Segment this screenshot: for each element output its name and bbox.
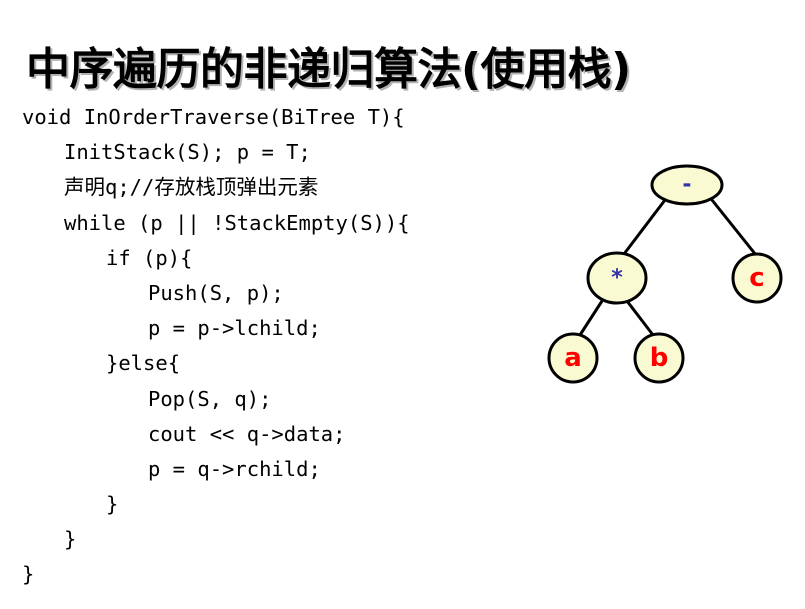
tree-node-group: -*cab bbox=[549, 166, 781, 382]
code-line: } bbox=[22, 487, 522, 522]
code-line: if (p){ bbox=[22, 241, 522, 276]
code-line: while (p || !StackEmpty(S)){ bbox=[22, 206, 522, 241]
expression-tree-svg: -*cab bbox=[520, 140, 805, 420]
code-block: void InOrderTraverse(BiTree T){InitStack… bbox=[22, 100, 522, 593]
tree-node-c[interactable]: c bbox=[733, 254, 781, 302]
tree-node-label-b: b bbox=[650, 343, 669, 373]
tree-edge-mul-a bbox=[580, 301, 602, 335]
tree-edge-mul-b bbox=[627, 301, 653, 335]
tree-node-label-mul: * bbox=[611, 266, 623, 291]
tree-node-a[interactable]: a bbox=[549, 334, 597, 382]
tree-node-mul[interactable]: * bbox=[588, 253, 646, 303]
slide-canvas: 中序遍历的非递归算法(使用栈) void InOrderTraverse(BiT… bbox=[0, 0, 805, 609]
code-line: Pop(S, q); bbox=[22, 382, 522, 417]
tree-node-b[interactable]: b bbox=[635, 334, 683, 382]
code-line: 声明q;//存放栈顶弹出元素 bbox=[22, 170, 522, 205]
code-line: Push(S, p); bbox=[22, 276, 522, 311]
code-line: void InOrderTraverse(BiTree T){ bbox=[22, 100, 522, 135]
code-line: cout << q->data; bbox=[22, 417, 522, 452]
code-line: p = q->rchild; bbox=[22, 452, 522, 487]
code-line: }else{ bbox=[22, 346, 522, 381]
code-line: } bbox=[22, 557, 522, 592]
tree-node-label-root: - bbox=[682, 173, 691, 198]
tree-node-label-c: c bbox=[749, 263, 764, 293]
tree-node-root[interactable]: - bbox=[652, 166, 722, 204]
tree-edge-root-mul bbox=[624, 200, 665, 254]
code-line: } bbox=[22, 522, 522, 557]
code-line: InitStack(S); p = T; bbox=[22, 135, 522, 170]
page-title: 中序遍历的非递归算法(使用栈) bbox=[26, 41, 786, 103]
tree-edge-root-c bbox=[712, 200, 756, 255]
code-line: p = p->lchild; bbox=[22, 311, 522, 346]
tree-node-label-a: a bbox=[564, 343, 582, 373]
expression-tree-figure: -*cab bbox=[520, 140, 805, 420]
